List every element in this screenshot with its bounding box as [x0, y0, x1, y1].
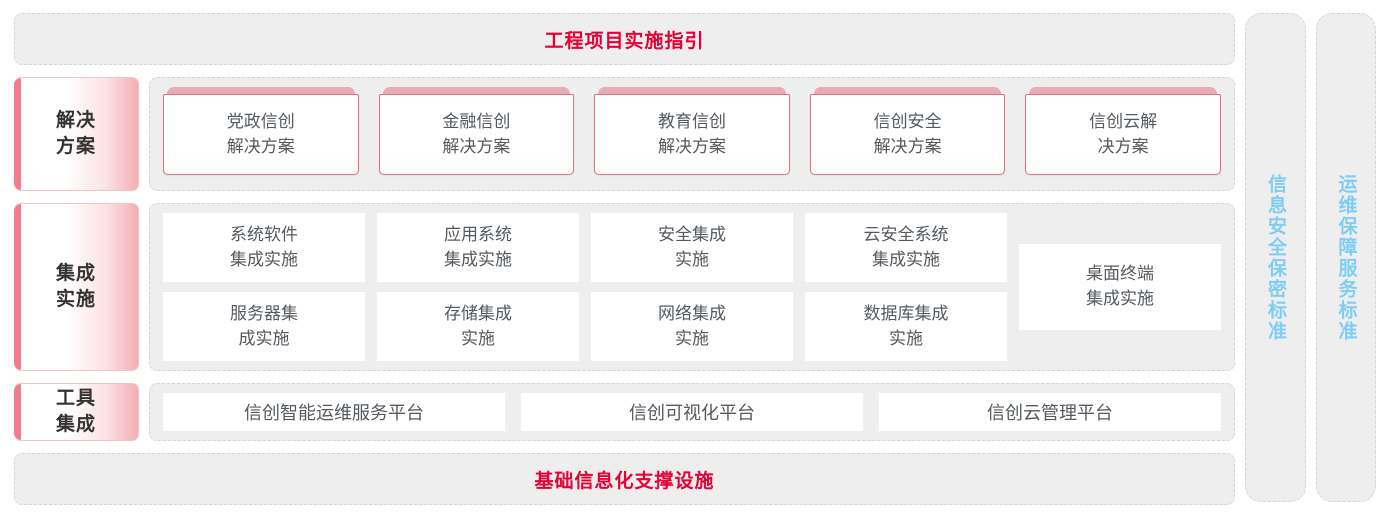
integration-column: 桌面终端 集成实施 [1019, 213, 1221, 361]
integration-box[interactable]: 桌面终端 集成实施 [1019, 244, 1221, 330]
side-column-security-standard[interactable]: 信息安全保密标准 [1245, 13, 1306, 502]
integration-box-label: 安全集成 实施 [658, 223, 726, 272]
row-tools: 工具 集成 信创智能运维服务平台 信创可视化平台 信创云管理平台 [14, 383, 1235, 441]
card-body: 信创安全 解决方案 [810, 94, 1006, 175]
tool-box-label: 信创可视化平台 [629, 399, 755, 425]
card-body: 党政信创 解决方案 [163, 94, 359, 175]
card-label: 党政信创 解决方案 [227, 110, 295, 159]
tool-box[interactable]: 信创可视化平台 [521, 393, 863, 431]
tool-box[interactable]: 信创智能运维服务平台 [163, 393, 505, 431]
solution-card[interactable]: 信创安全 解决方案 [810, 87, 1006, 181]
integration-box-label: 桌面终端 集成实施 [1086, 262, 1154, 311]
integration-box-label: 系统软件 集成实施 [230, 223, 298, 272]
header-banner: 工程项目实施指引 [14, 13, 1235, 65]
integration-column: 安全集成 实施 网络集成 实施 [591, 213, 793, 361]
integration-box-label: 网络集成 实施 [658, 302, 726, 351]
footer-title: 基础信息化支撑设施 [534, 466, 714, 493]
card-body: 金融信创 解决方案 [379, 94, 575, 175]
integration-column: 系统软件 集成实施 服务器集 成实施 [163, 213, 365, 361]
card-label: 信创云解 决方案 [1089, 110, 1157, 159]
solutions-panel: 党政信创 解决方案 金融信创 解决方案 教育信创 解决方案 [149, 77, 1235, 191]
integration-box-label: 应用系统 集成实施 [444, 223, 512, 272]
solution-card[interactable]: 党政信创 解决方案 [163, 87, 359, 181]
row-label-solutions-text: 解决 方案 [56, 108, 96, 159]
tools-panel: 信创智能运维服务平台 信创可视化平台 信创云管理平台 [149, 383, 1235, 441]
solution-card[interactable]: 金融信创 解决方案 [379, 87, 575, 181]
card-body: 教育信创 解决方案 [594, 94, 790, 175]
integration-box[interactable]: 数据库集成 实施 [805, 292, 1007, 361]
integration-box[interactable]: 网络集成 实施 [591, 292, 793, 361]
integration-box-label: 数据库集成 实施 [864, 302, 949, 351]
page-title: 工程项目实施指引 [544, 26, 704, 53]
solution-card[interactable]: 教育信创 解决方案 [594, 87, 790, 181]
tool-box[interactable]: 信创云管理平台 [879, 393, 1221, 431]
row-label-tools: 工具 集成 [14, 383, 139, 441]
integration-box[interactable]: 系统软件 集成实施 [163, 213, 365, 282]
integration-box-label: 存储集成 实施 [444, 302, 512, 351]
card-body: 信创云解 决方案 [1025, 94, 1221, 175]
row-solutions: 解决 方案 党政信创 解决方案 金融信创 解决方案 [14, 77, 1235, 191]
card-label: 金融信创 解决方案 [442, 110, 510, 159]
side-column-security-label: 信息安全保密标准 [1261, 174, 1289, 342]
row-label-solutions: 解决 方案 [14, 77, 139, 191]
integration-box[interactable]: 安全集成 实施 [591, 213, 793, 282]
integration-panel: 系统软件 集成实施 服务器集 成实施 应用系统 集成实施 存储集成 实施 [149, 203, 1235, 371]
card-label: 教育信创 解决方案 [658, 110, 726, 159]
integration-column: 应用系统 集成实施 存储集成 实施 [377, 213, 579, 361]
main-column: 工程项目实施指引 解决 方案 党政信创 解决方案 金融信创 解决方案 [0, 0, 1245, 515]
integration-box[interactable]: 云安全系统 集成实施 [805, 213, 1007, 282]
row-integration: 集成 实施 系统软件 集成实施 服务器集 成实施 应用系统 集成实施 [14, 203, 1235, 371]
side-column-ops-label: 运维保障服务标准 [1332, 174, 1360, 342]
integration-column: 云安全系统 集成实施 数据库集成 实施 [805, 213, 1007, 361]
tool-box-label: 信创智能运维服务平台 [244, 399, 424, 425]
side-columns: 信息安全保密标准 运维保障服务标准 [1245, 0, 1390, 515]
integration-box[interactable]: 服务器集 成实施 [163, 292, 365, 361]
integration-box[interactable]: 存储集成 实施 [377, 292, 579, 361]
row-label-integration: 集成 实施 [14, 203, 139, 371]
integration-box-label: 云安全系统 集成实施 [864, 223, 949, 272]
card-label: 信创安全 解决方案 [874, 110, 942, 159]
integration-box-label: 服务器集 成实施 [230, 302, 298, 351]
row-label-integration-text: 集成 实施 [56, 261, 96, 312]
diagram-root: 工程项目实施指引 解决 方案 党政信创 解决方案 金融信创 解决方案 [0, 0, 1390, 515]
side-column-ops-standard[interactable]: 运维保障服务标准 [1316, 13, 1377, 502]
footer-banner: 基础信息化支撑设施 [14, 453, 1235, 505]
solution-card[interactable]: 信创云解 决方案 [1025, 87, 1221, 181]
row-label-tools-text: 工具 集成 [56, 386, 96, 437]
tool-box-label: 信创云管理平台 [987, 399, 1113, 425]
integration-box[interactable]: 应用系统 集成实施 [377, 213, 579, 282]
